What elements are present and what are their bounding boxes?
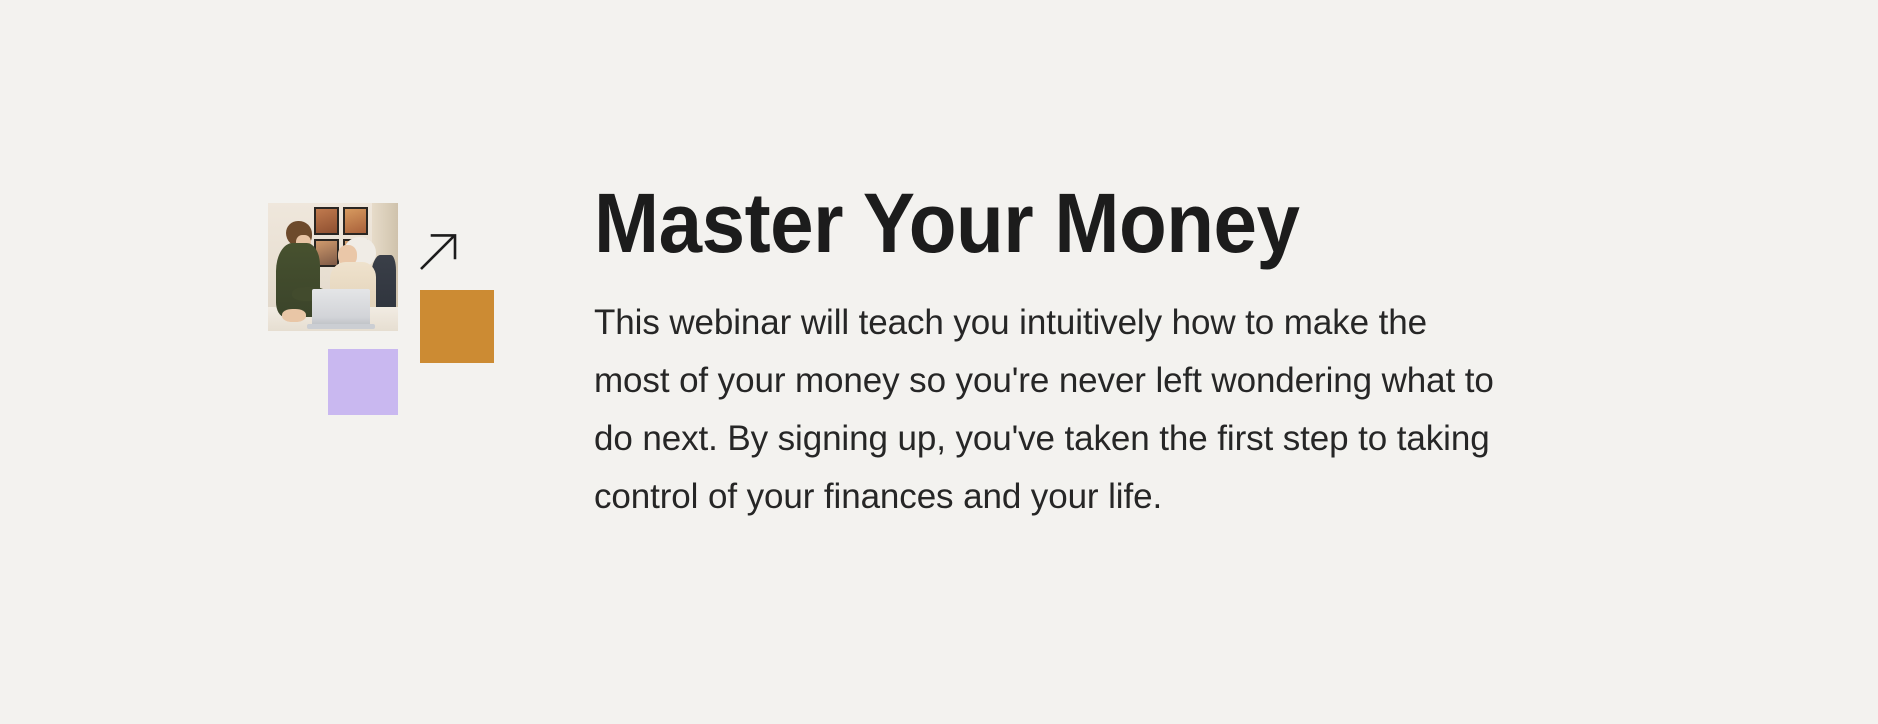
hero-graphic-cluster xyxy=(268,203,458,393)
page-title: Master Your Money xyxy=(594,182,1459,264)
purple-square xyxy=(328,349,398,415)
photo-person-hand xyxy=(282,309,306,322)
arrow-up-right-icon xyxy=(418,230,460,272)
hero-description: This webinar will teach you intuitively … xyxy=(594,294,1509,526)
hero-section: Master Your Money This webinar will teac… xyxy=(0,0,1878,724)
orange-square xyxy=(420,290,494,363)
hero-photo xyxy=(268,203,398,331)
photo-laptop xyxy=(312,289,370,325)
photo-two-women-laptop-icon xyxy=(268,203,398,331)
wall-frame xyxy=(343,207,368,235)
hero-content: Master Your Money This webinar will teac… xyxy=(594,182,1524,526)
